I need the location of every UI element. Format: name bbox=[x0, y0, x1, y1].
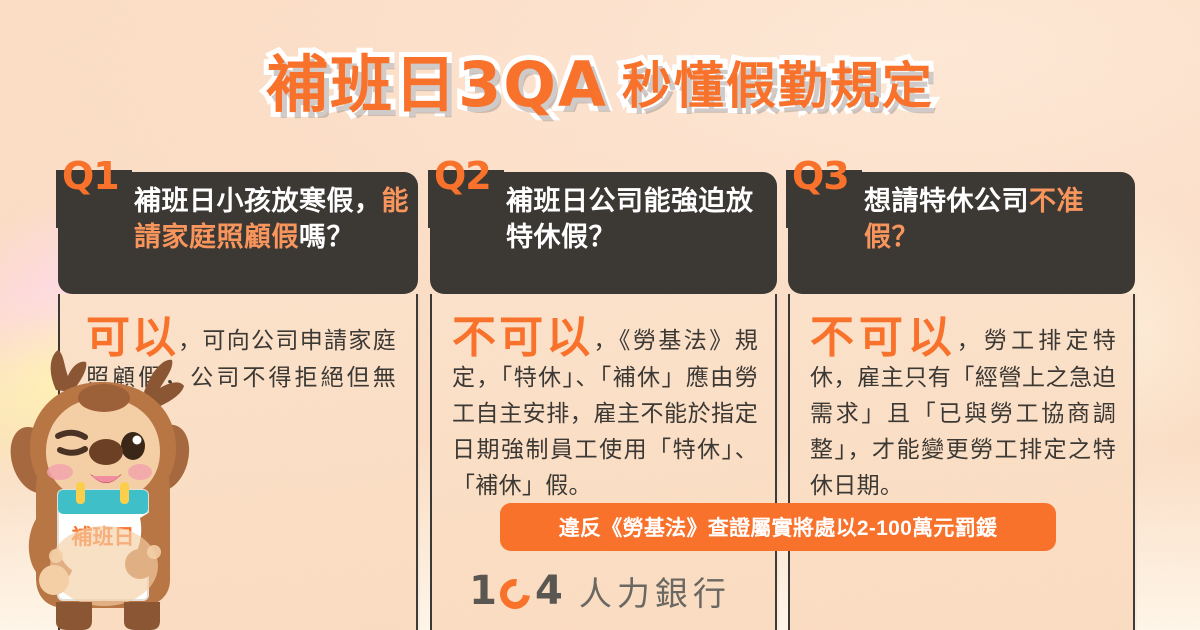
qa-card-3: Q3 想請特休公司不准假？ 不可以，勞工排定特休，雇主只有「經營上之急迫需求」且… bbox=[788, 150, 1135, 543]
q-badge-3: Q3 bbox=[792, 154, 849, 198]
question-text-2: 補班日公司能強迫放特休假？ bbox=[506, 184, 771, 255]
penalty-banner: 違反《勞基法》查證屬實將處以2-100萬元罰鍰 bbox=[500, 503, 1056, 551]
answer-keyword-3: 不可以 bbox=[810, 313, 957, 362]
logo-wordmark: 人力銀行 bbox=[579, 567, 731, 615]
answer-keyword-2: 不可以 bbox=[452, 313, 593, 362]
question-text-3: 想請特休公司不准假？ bbox=[864, 184, 1129, 255]
answer-text-2: 不可以，《勞基法》規定，「特休」、「補休」應由勞工自主安排，雇主不能於指定日期強… bbox=[452, 316, 758, 504]
title-main: 補班日3QA bbox=[266, 34, 608, 124]
question-text-1-part-2: 嗎？ bbox=[299, 222, 354, 252]
question-text-2-part-0: 補班日公司能強迫放特休假？ bbox=[506, 186, 754, 252]
question-text-1: 補班日小孩放寒假，能請家庭照顧假嗎？ bbox=[134, 184, 414, 255]
answer-text-3: 不可以，勞工排定特休，雇主只有「經營上之急迫需求」且「已與勞工協商調整」，才能變… bbox=[810, 316, 1116, 504]
penalty-banner-text: 違反《勞基法》查證屬實將處以2-100萬元罰鍰 bbox=[559, 512, 998, 542]
q-badge-2: Q2 bbox=[434, 154, 491, 198]
question-text-3-part-0: 想請特休公司 bbox=[864, 186, 1029, 216]
title-sub: 秒懂假勤規定 bbox=[622, 46, 934, 118]
question-text-1-part-0: 補班日小孩放寒假， bbox=[134, 186, 382, 216]
page-title: 補班日3QA秒懂假勤規定 bbox=[0, 34, 1200, 124]
logo-ring-icon bbox=[494, 573, 536, 615]
logo-digit-4: 4 bbox=[535, 568, 563, 614]
q-badge-1: Q1 bbox=[62, 154, 119, 198]
deer-mascot-icon: 補班日 bbox=[0, 330, 244, 630]
qa-card-2: Q2 補班日公司能強迫放特休假？ 不可以，《勞基法》規定，「特休」、「補休」應由… bbox=[430, 150, 777, 543]
logo-digit-1: 1 bbox=[469, 568, 497, 614]
